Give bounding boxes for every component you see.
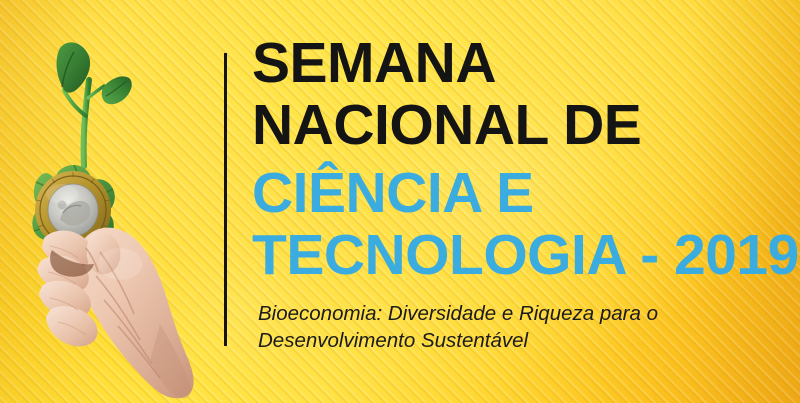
hand xyxy=(37,228,194,399)
headline-line-ciencia-e: CIÊNCIA E xyxy=(252,166,792,222)
event-banner: SEMANA NACIONAL DE CIÊNCIA E TECNOLOGIA … xyxy=(0,0,800,403)
event-subtitle: Bioeconomia: Diversidade e Riqueza para … xyxy=(258,301,678,353)
small-leaf xyxy=(102,76,132,104)
vertical-divider xyxy=(224,53,227,346)
headline-line-nacional-de: NACIONAL DE xyxy=(252,98,792,154)
headline-block: SEMANA NACIONAL DE CIÊNCIA E TECNOLOGIA … xyxy=(252,36,792,354)
large-leaf xyxy=(57,42,91,92)
headline-line-semana: SEMANA xyxy=(252,36,792,92)
hand-holding-coin-with-sprout-illustration xyxy=(0,24,210,403)
green-sprout xyxy=(57,42,132,166)
headline-line-tecnologia-2019: TECNOLOGIA - 2019 xyxy=(252,228,792,284)
